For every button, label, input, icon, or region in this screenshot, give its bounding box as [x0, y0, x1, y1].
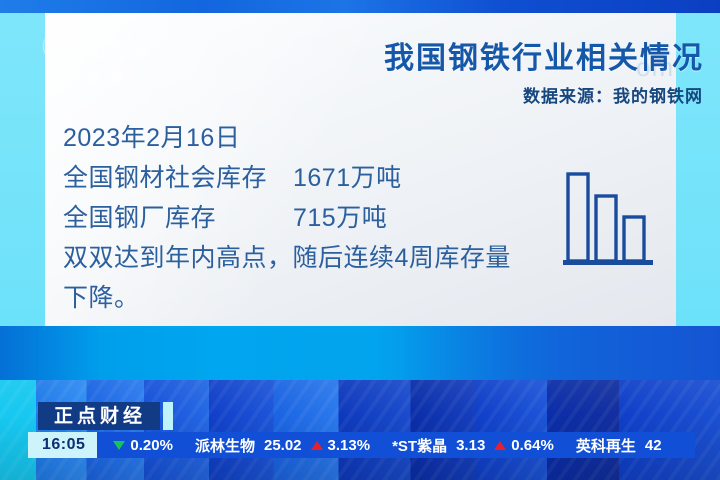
program-banner-accent [163, 402, 173, 430]
stat-value: 715万吨 [293, 198, 387, 238]
arrow-down-icon [113, 441, 125, 450]
stock-ticker-bar: 16:05 0.20% 派林生物 25.02 3.13% *ST紫晶 3.13 … [28, 432, 695, 458]
stat-row: 全国钢材社会库存 1671万吨 [63, 158, 533, 198]
stat-label: 全国钢材社会库存 [63, 158, 293, 198]
ticker-index-change: 0.20% [113, 437, 173, 454]
lower-vignette [0, 380, 720, 480]
statistics-text-block: 2023年2月16日 全国钢材社会库存 1671万吨 全国钢厂库存 715万吨 … [63, 118, 533, 318]
stat-value: 1671万吨 [293, 158, 402, 198]
bar-3 [624, 217, 644, 261]
data-source-label: 数据来源：我的钢铁网 [143, 82, 703, 107]
ticker-items: 0.20% 派林生物 25.02 3.13% *ST紫晶 3.13 0.64% … [97, 435, 683, 456]
broadcast-screen: CCTV 2 财经 om 我国钢铁行业相关情况 数据来源：我的钢铁网 2023年… [0, 0, 720, 480]
stock-price: 42 [645, 437, 662, 454]
date-line: 2023年2月16日 [63, 118, 533, 158]
ticker-stock-item: 英科再生 42 [576, 435, 662, 456]
ticker-clock: 16:05 [28, 432, 97, 458]
stat-row: 全国钢厂库存 715万吨 [63, 198, 533, 238]
stock-price: 3.13 [456, 437, 485, 454]
stock-price: 25.02 [264, 437, 302, 454]
page-title: 我国钢铁行业相关情况 [144, 33, 704, 77]
arrow-up-icon [494, 441, 506, 450]
bar-1 [568, 174, 588, 261]
stock-name: 派林生物 [195, 435, 255, 456]
bar-2 [596, 196, 616, 261]
mid-blue-band-shading [0, 326, 720, 380]
program-name: 正点财经 [38, 402, 160, 430]
top-gradient-strip [0, 0, 720, 13]
cctv-logo-letters: CCTV [42, 30, 131, 64]
chart-baseline [563, 260, 653, 265]
stock-name: *ST紫晶 [392, 435, 447, 456]
index-change-value: 0.20% [130, 437, 173, 454]
stock-name: 英科再生 [576, 435, 636, 456]
stock-change: 3.13% [328, 437, 371, 454]
stock-change: 0.64% [511, 437, 554, 454]
stat-label: 全国钢厂库存 [63, 198, 293, 238]
summary-note: 双双达到年内高点，随后连续4周库存量下降。 [63, 238, 533, 318]
ticker-stock-item: 派林生物 25.02 3.13% [195, 435, 370, 456]
bar-chart-icon [562, 152, 657, 272]
arrow-up-icon [311, 441, 323, 450]
program-banner: 正点财经 [38, 402, 173, 430]
ticker-stock-item: *ST紫晶 3.13 0.64% [392, 435, 554, 456]
